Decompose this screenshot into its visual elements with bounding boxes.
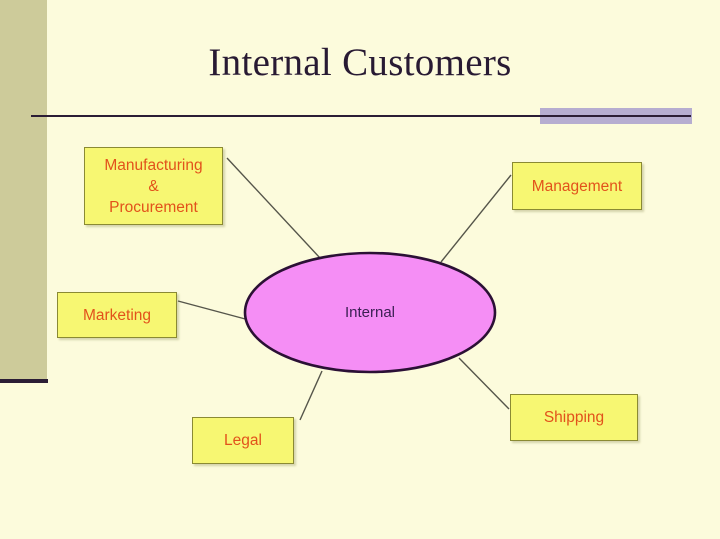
node-shipping-label: Shipping: [544, 407, 604, 428]
node-marketing[interactable]: Marketing: [57, 292, 177, 338]
node-manufacturing-label: Manufacturing & Procurement: [104, 155, 202, 218]
connector-marketing: [178, 301, 249, 320]
node-shipping[interactable]: Shipping: [510, 394, 638, 441]
hub-and-spoke-diagram: [0, 0, 720, 539]
connector-management: [441, 175, 511, 262]
center-ellipse[interactable]: [245, 253, 495, 372]
node-manufacturing-line1: Manufacturing: [104, 157, 202, 174]
node-manufacturing[interactable]: Manufacturing & Procurement: [84, 147, 223, 225]
node-legal-label: Legal: [224, 430, 262, 451]
slide-canvas: Internal Customers Internal Manufacturin…: [0, 0, 720, 539]
connector-shipping: [459, 358, 509, 409]
node-manufacturing-line2: &: [148, 178, 158, 195]
node-legal[interactable]: Legal: [192, 417, 294, 464]
node-manufacturing-line3: Procurement: [109, 199, 198, 216]
node-management-label: Management: [532, 176, 622, 197]
connector-manufacturing: [227, 158, 320, 258]
node-management[interactable]: Management: [512, 162, 642, 210]
connector-legal: [300, 371, 322, 420]
node-marketing-label: Marketing: [83, 305, 151, 326]
